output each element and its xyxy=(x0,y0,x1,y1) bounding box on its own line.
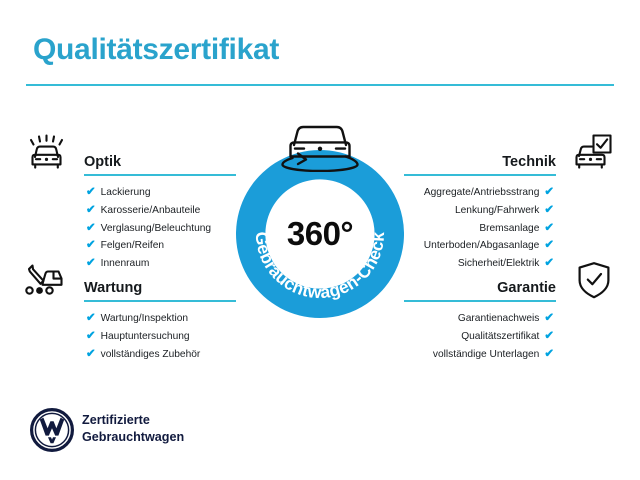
section-divider xyxy=(84,300,236,302)
check-icon: ✔ xyxy=(544,310,554,327)
section-item-list: ✔ Wartung/Inspektion ✔ Hauptuntersuchung… xyxy=(86,310,200,363)
check-icon: ✔ xyxy=(86,346,96,363)
car-rotate-icon xyxy=(262,118,378,172)
section-item-list: Garantienachweis ✔ Qualitätszertifikat ✔… xyxy=(433,310,554,363)
vw-wordmark-line2: Gebrauchtwagen xyxy=(82,429,184,446)
vw-logo xyxy=(30,408,74,452)
section-header: Wartung xyxy=(84,272,236,298)
list-item-label: Verglasung/Beleuchtung xyxy=(101,221,211,238)
check-icon: ✔ xyxy=(544,220,554,237)
list-item-label: Aggregate/Antriebsstrang xyxy=(424,185,540,202)
list-item-label: Garantienachweis xyxy=(458,311,540,328)
list-item: Bremsanlage ✔ xyxy=(424,220,554,238)
list-item: ✔ Wartung/Inspektion xyxy=(86,310,200,328)
list-item-label: Bremsanlage xyxy=(479,221,539,238)
section-title: Technik xyxy=(502,154,556,170)
list-item: Qualitätszertifikat ✔ xyxy=(433,328,554,346)
section-divider xyxy=(404,300,556,302)
check-icon: ✔ xyxy=(544,328,554,345)
list-item-label: vollständiges Zubehör xyxy=(101,347,201,364)
list-item: Unterboden/Abgasanlage ✔ xyxy=(424,237,554,255)
check-icon: ✔ xyxy=(86,310,96,327)
section-divider xyxy=(84,174,236,176)
list-item-label: Wartung/Inspektion xyxy=(101,311,188,328)
check-icon: ✔ xyxy=(544,346,554,363)
section-item-list: Aggregate/Antriebsstrang ✔ Lenkung/Fahrw… xyxy=(424,184,554,273)
check-icon: ✔ xyxy=(86,328,96,345)
section-technik: Technik Aggregate/Antriebsstrang ✔ Lenku… xyxy=(404,146,556,172)
list-item-label: Innenraum xyxy=(101,256,150,273)
list-item: vollständige Unterlagen ✔ xyxy=(433,346,554,364)
list-item-label: vollständige Unterlagen xyxy=(433,347,539,364)
check-icon: ✔ xyxy=(86,220,96,237)
car-wrench-icon xyxy=(20,257,68,299)
shield-check-icon xyxy=(570,259,618,301)
section-item-list: ✔ Lackierung ✔ Karosserie/Anbauteile ✔ V… xyxy=(86,184,211,273)
page-title: Qualitätszertifikat xyxy=(33,33,279,67)
section-header: Technik xyxy=(404,146,556,172)
list-item: Sicherheit/Elektrik ✔ xyxy=(424,255,554,273)
car-shine-icon xyxy=(22,131,70,173)
list-item: ✔ Felgen/Reifen xyxy=(86,237,211,255)
list-item-label: Sicherheit/Elektrik xyxy=(458,256,540,273)
section-optik: Optik ✔ Lackierung ✔ Karosserie/Anbautei… xyxy=(84,146,236,172)
list-item: ✔ Hauptuntersuchung xyxy=(86,328,200,346)
list-item-label: Felgen/Reifen xyxy=(101,238,164,255)
check-icon: ✔ xyxy=(86,202,96,219)
list-item-label: Hauptuntersuchung xyxy=(101,329,190,346)
check-icon: ✔ xyxy=(544,255,554,272)
list-item: ✔ Lackierung xyxy=(86,184,211,202)
list-item-label: Qualitätszertifikat xyxy=(461,329,539,346)
check-icon: ✔ xyxy=(86,237,96,254)
list-item: Aggregate/Antriebsstrang ✔ xyxy=(424,184,554,202)
list-item-label: Unterboden/Abgasanlage xyxy=(424,238,540,255)
list-item: ✔ vollständiges Zubehör xyxy=(86,346,200,364)
vw-wordmark-line1: Zertifizierte xyxy=(82,412,184,429)
list-item: ✔ Innenraum xyxy=(86,255,211,273)
list-item: Lenkung/Fahrwerk ✔ xyxy=(424,202,554,220)
section-divider xyxy=(404,174,556,176)
section-title: Optik xyxy=(84,154,121,170)
vw-wordmark: Zertifizierte Gebrauchtwagen xyxy=(82,412,184,446)
list-item: ✔ Karosserie/Anbauteile xyxy=(86,202,211,220)
section-title: Garantie xyxy=(497,280,556,296)
check-icon: ✔ xyxy=(544,237,554,254)
section-header: Garantie xyxy=(404,272,556,298)
list-item-label: Lenkung/Fahrwerk xyxy=(455,203,539,220)
car-checkbox-icon xyxy=(567,131,615,173)
section-title: Wartung xyxy=(84,280,142,296)
gebrauchtwagen-check-badge: Gebrauchtwagen-Check xyxy=(236,150,404,318)
list-item-label: Lackierung xyxy=(101,185,151,202)
list-item: Garantienachweis ✔ xyxy=(433,310,554,328)
section-wartung: Wartung ✔ Wartung/Inspektion ✔ Hauptunte… xyxy=(84,272,236,298)
check-icon: ✔ xyxy=(86,255,96,272)
section-header: Optik xyxy=(84,146,236,172)
list-item: ✔ Verglasung/Beleuchtung xyxy=(86,220,211,238)
check-icon: ✔ xyxy=(544,202,554,219)
section-garantie: Garantie Garantienachweis ✔ Qualitätszer… xyxy=(404,272,556,298)
list-item-label: Karosserie/Anbauteile xyxy=(101,203,201,220)
quality-certificate-page: Qualitätszertifikat Optik xyxy=(0,0,640,480)
title-divider xyxy=(26,84,614,86)
check-icon: ✔ xyxy=(86,184,96,201)
check-icon: ✔ xyxy=(544,184,554,201)
